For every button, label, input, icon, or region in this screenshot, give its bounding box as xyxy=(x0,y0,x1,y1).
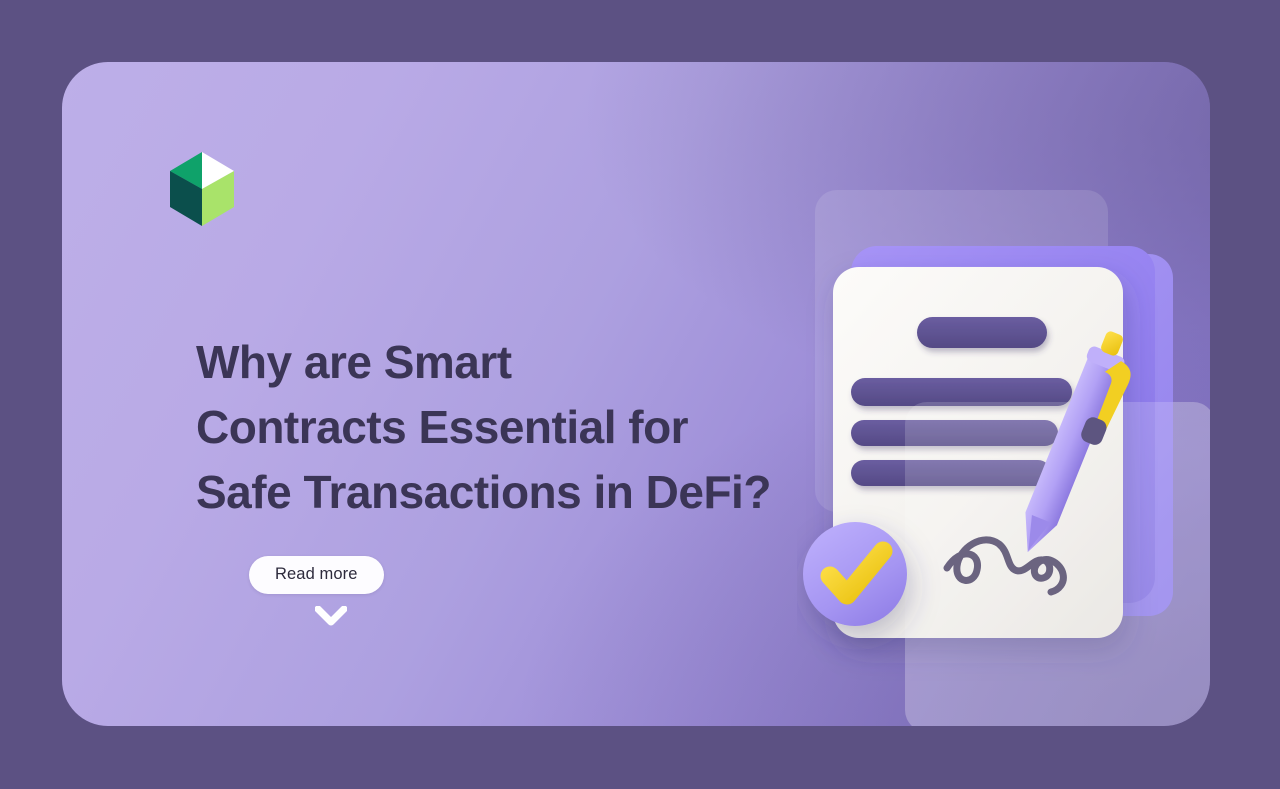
cube-logo[interactable] xyxy=(166,152,238,226)
read-more-label: Read more xyxy=(275,565,358,584)
hero-card: Why are Smart Contracts Essential for Sa… xyxy=(62,62,1210,726)
chevron-down-icon xyxy=(315,606,347,626)
document-text-bar xyxy=(851,378,1072,406)
read-more-button[interactable]: Read more xyxy=(249,556,384,594)
scroll-down-control[interactable] xyxy=(249,606,412,626)
page-title: Why are Smart Contracts Essential for Sa… xyxy=(196,330,876,525)
page-root: Why are Smart Contracts Essential for Sa… xyxy=(0,0,1280,789)
document-text-bar xyxy=(917,317,1047,348)
hero-copy: Why are Smart Contracts Essential for Sa… xyxy=(196,330,876,626)
